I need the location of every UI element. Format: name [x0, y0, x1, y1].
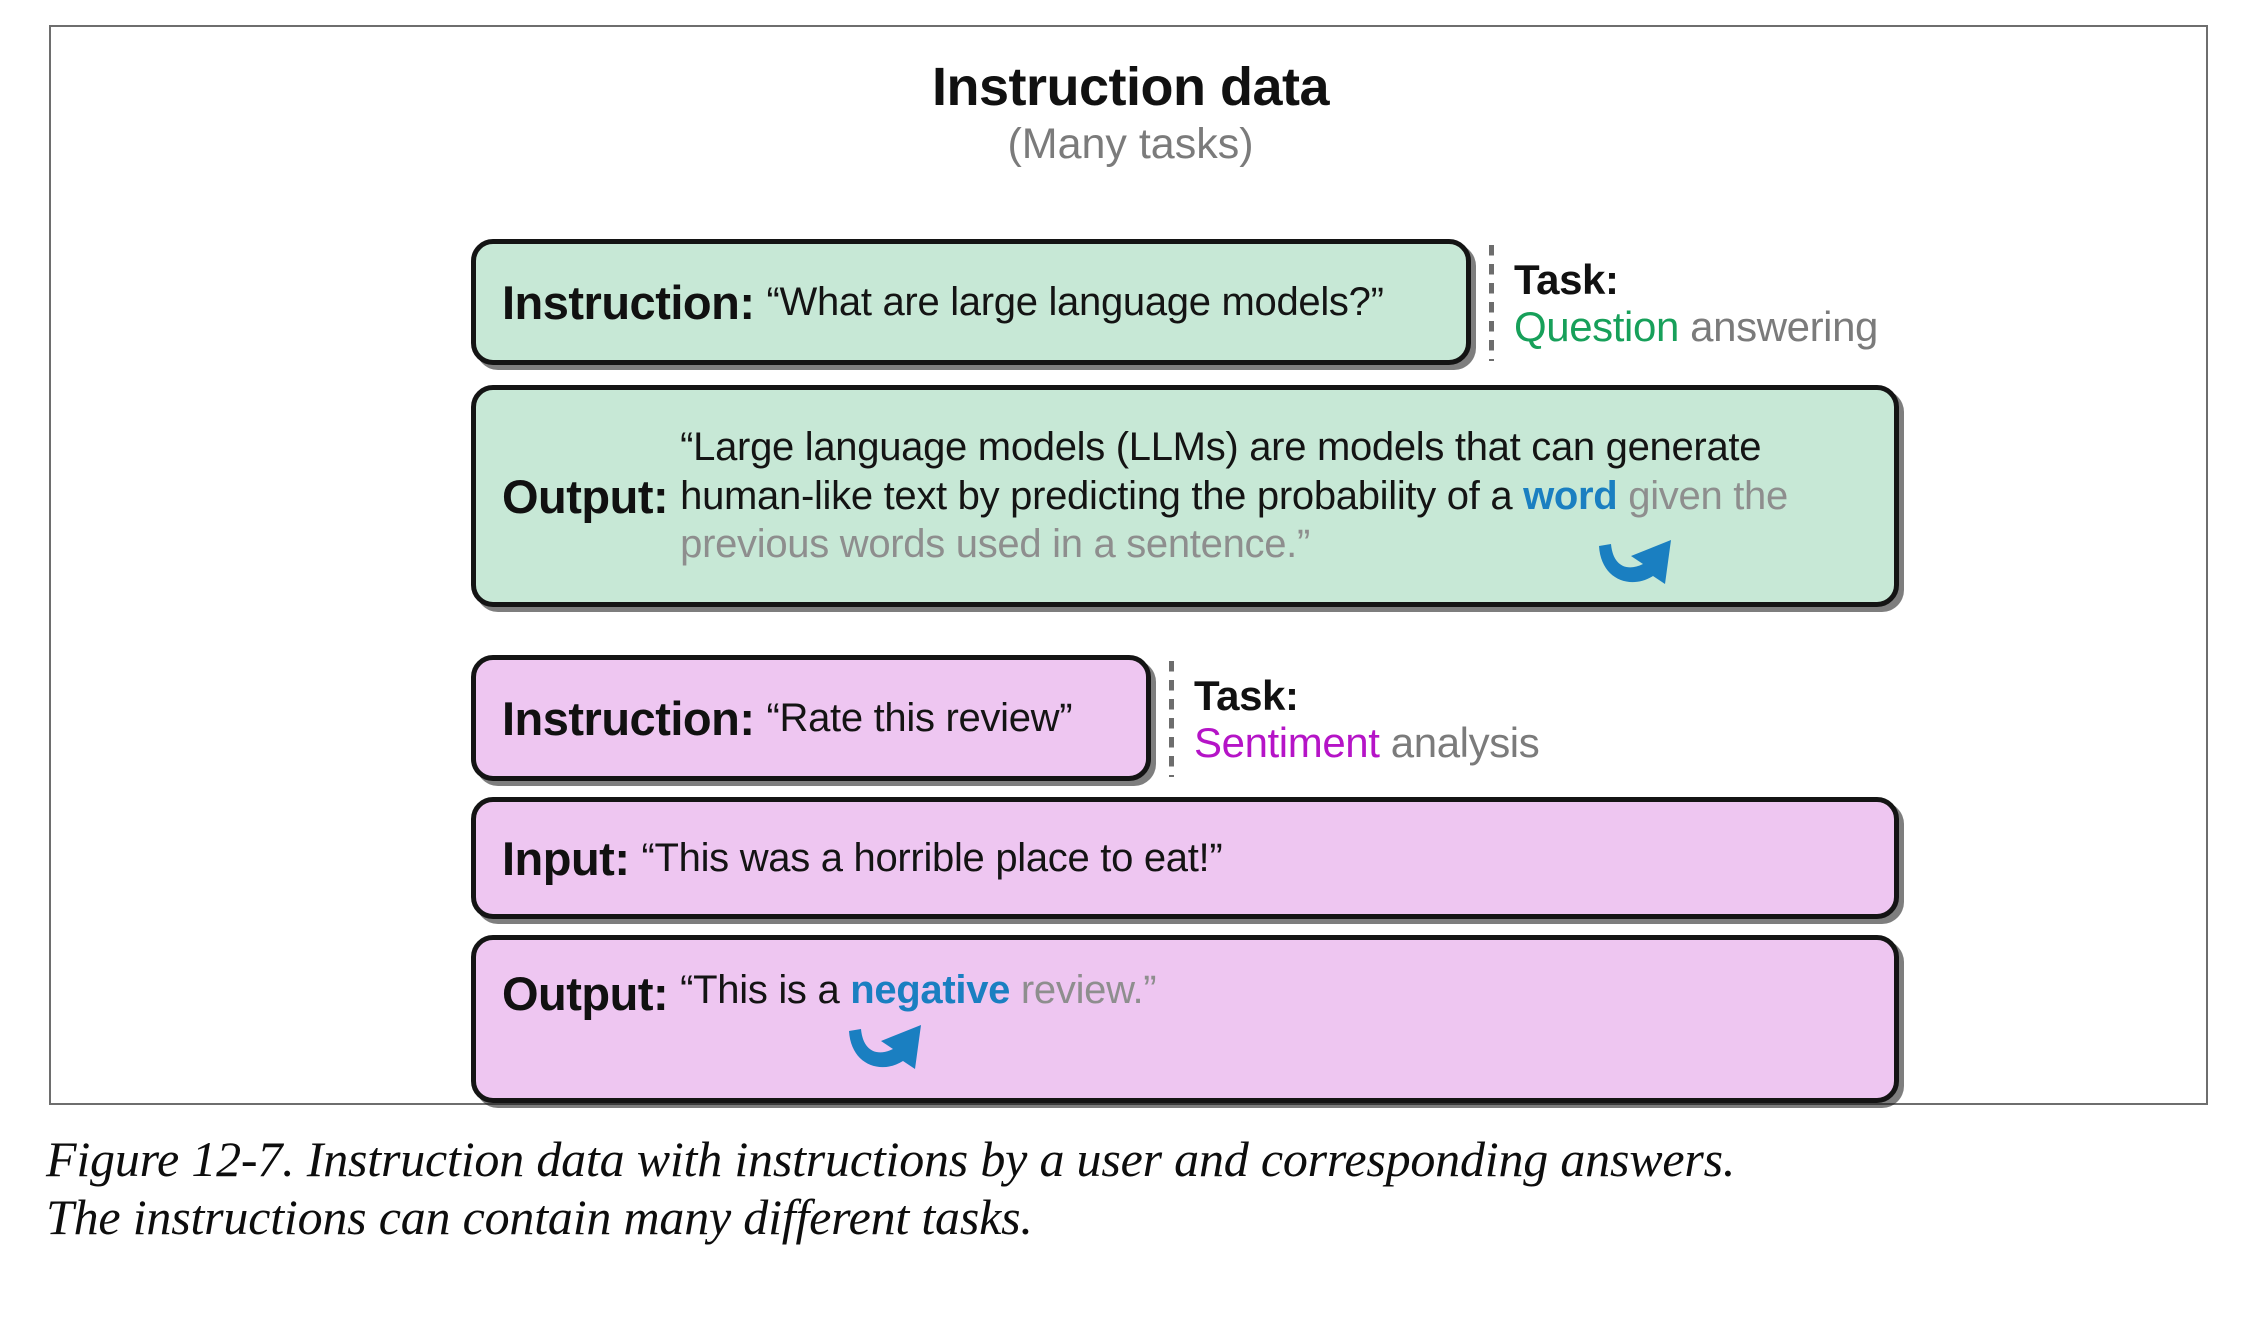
output-highlight: word [1523, 474, 1617, 518]
instruction-label: Instruction: [502, 691, 754, 746]
output-box-sentiment: Output: “This is a negative review.” [471, 935, 1899, 1103]
task-value: Question answering [1514, 303, 1878, 350]
instruction-label: Instruction: [502, 275, 754, 330]
page-title: Instruction data [51, 59, 2210, 116]
curved-arrow-up-right-icon [841, 1017, 941, 1087]
input-value: “This was a horrible place to eat!” [642, 836, 1223, 881]
figure-caption: Figure 12-7. Instruction data with instr… [46, 1130, 2166, 1246]
task-text-wrap: Task: Sentiment analysis [1194, 672, 1539, 766]
caption-line-1: Figure 12-7. Instruction data with instr… [46, 1131, 1735, 1187]
task-suffix: analysis [1380, 719, 1540, 766]
task-annotation-sentiment: Task: Sentiment analysis [1169, 661, 1539, 777]
task-annotation-qa: Task: Question answering [1489, 245, 1878, 361]
output-value: “This is a negative review.” [680, 966, 1156, 1015]
task-kind: Question [1514, 303, 1679, 350]
caption-line-2: The instructions can contain many differ… [46, 1189, 1033, 1245]
page-subtitle: (Many tasks) [51, 120, 2210, 169]
output-label: Output: [502, 966, 668, 1021]
output-highlight: negative [850, 968, 1010, 1012]
output-segment-1: “This is a [680, 968, 850, 1012]
instruction-box-sentiment: Instruction: “Rate this review” [471, 655, 1151, 781]
task-suffix: answering [1679, 303, 1878, 350]
curved-arrow-up-right-icon [1591, 532, 1691, 602]
output-label: Output: [502, 469, 668, 524]
input-box-sentiment: Input: “This was a horrible place to eat… [471, 797, 1899, 919]
dotted-divider-icon [1169, 661, 1174, 777]
task-label: Task: [1514, 256, 1878, 303]
task-label: Task: [1194, 672, 1539, 719]
output-segment-2: review.” [1010, 968, 1156, 1012]
figure-frame: Instruction data (Many tasks) Instructio… [49, 25, 2208, 1105]
instruction-value: “Rate this review” [766, 696, 1072, 741]
task-text-wrap: Task: Question answering [1514, 256, 1878, 350]
task-kind: Sentiment [1194, 719, 1380, 766]
instruction-value: “What are large language models?” [766, 280, 1383, 325]
task-value: Sentiment analysis [1194, 719, 1539, 766]
figure-title-block: Instruction data (Many tasks) [51, 59, 2210, 169]
dotted-divider-icon [1489, 245, 1494, 361]
input-label: Input: [502, 831, 630, 886]
instruction-box-qa: Instruction: “What are large language mo… [471, 239, 1471, 365]
